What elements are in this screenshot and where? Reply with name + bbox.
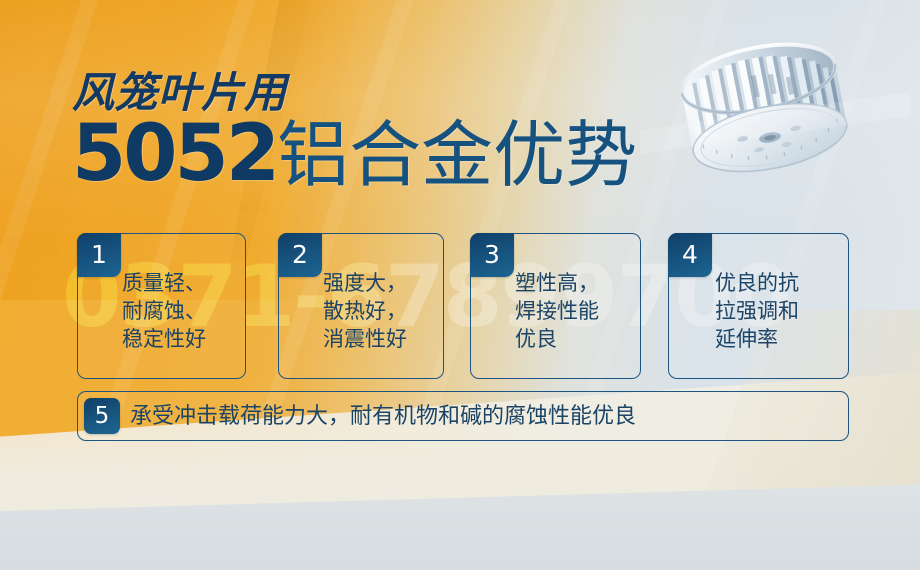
feature-card-5-badge: 5 [84, 398, 120, 434]
feature-card-4-badge: 4 [668, 233, 712, 277]
feature-card-2[interactable]: 2 强度大， 散热好， 消震性好 [278, 233, 444, 379]
feature-card-3[interactable]: 3 塑性高， 焊接性能 优良 [470, 233, 641, 379]
feature-card-1-badge: 1 [77, 233, 121, 277]
feature-card-2-badge: 2 [278, 233, 322, 277]
title-main-text: 铝合金优势 [277, 113, 637, 197]
blower-wheel-image [640, 12, 910, 222]
feature-card-5[interactable]: 5 承受冲击载荷能力大，耐有机物和碱的腐蚀性能优良 [77, 391, 849, 441]
title-block: 风笼叶片用 5052铝合金优势 [72, 72, 632, 192]
title-alloy-number: 5052 [72, 109, 277, 199]
poster-canvas: 0371-67899700 [0, 0, 920, 570]
feature-card-5-text: 承受冲击载荷能力大，耐有机物和碱的腐蚀性能优良 [130, 403, 636, 431]
feature-card-3-badge: 3 [470, 233, 514, 277]
feature-card-4-text: 优良的抗 拉强调和 延伸率 [715, 270, 842, 354]
feature-card-4[interactable]: 4 优良的抗 拉强调和 延伸率 [668, 233, 849, 379]
title-main: 5052铝合金优势 [72, 116, 632, 192]
feature-card-1[interactable]: 1 质量轻、 耐腐蚀、 稳定性好 [77, 233, 246, 379]
feature-card-list: 1 质量轻、 耐腐蚀、 稳定性好 2 强度大， 散热好， 消震性好 3 塑性高，… [77, 233, 849, 379]
feature-card-3-text: 塑性高， 焊接性能 优良 [515, 270, 634, 354]
title-kicker: 风笼叶片用 [72, 72, 632, 114]
feature-card-1-text: 质量轻、 耐腐蚀、 稳定性好 [122, 270, 239, 354]
feature-card-2-text: 强度大， 散热好， 消震性好 [323, 270, 437, 354]
blower-wheel-icon [640, 12, 910, 222]
